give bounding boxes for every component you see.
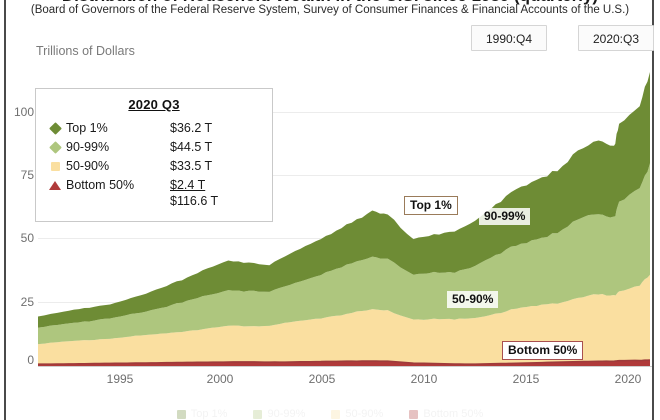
bottom-legend-marker-icon — [409, 410, 418, 419]
bottom-legend: Top 1%90-99%50-90%Bottom 50% — [0, 408, 660, 420]
bottom-legend-label: Top 1% — [191, 408, 228, 420]
legend-series-value: $36.2 T — [162, 121, 264, 135]
legend-series-name: Top 1% — [66, 121, 162, 135]
legend-panel: 2020 Q3 Top 1%$36.2 T90-99%$44.5 T50-90%… — [35, 88, 273, 222]
legend-total-value: $116.6 T — [162, 194, 264, 213]
bottom-legend-label: Bottom 50% — [423, 408, 483, 420]
legend-row: Top 1%$36.2 T — [44, 118, 264, 137]
y-tick-50: 50 — [0, 231, 34, 245]
page-subtitle: (Board of Governors of the Federal Reser… — [0, 4, 660, 16]
x-axis-line — [38, 366, 652, 367]
x-tick-2005: 2005 — [297, 372, 347, 386]
x-tick-2000: 2000 — [195, 372, 245, 386]
bottom-legend-label: 50-90% — [345, 408, 383, 420]
bottom-legend-item: 90-99% — [253, 408, 305, 420]
legend-series-name: Bottom 50% — [66, 178, 162, 192]
x-tick-2010: 2010 — [399, 372, 449, 386]
x-tick-2020: 2020 — [603, 372, 653, 386]
x-tick-1995: 1995 — [95, 372, 145, 386]
y-axis-units-label: Trillions of Dollars — [36, 44, 135, 58]
x-tick-2015: 2015 — [501, 372, 551, 386]
bottom-legend-marker-icon — [331, 410, 340, 419]
bottom-legend-label: 90-99% — [267, 408, 305, 420]
square-marker-icon — [44, 160, 66, 172]
diamond-marker-icon — [44, 122, 66, 134]
legend-total-spacer — [44, 194, 162, 213]
legend-total-row: $116.6 T — [44, 194, 264, 213]
bottom-legend-marker-icon — [177, 410, 186, 419]
legend-series-value: $33.5 T — [162, 159, 264, 173]
legend-rows: Top 1%$36.2 T90-99%$44.5 T50-90%$33.5 TB… — [44, 118, 264, 194]
frame-right-border — [652, 0, 654, 420]
start-date-selector[interactable]: 1990:Q4 — [471, 25, 547, 51]
y-tick-100: 100 — [0, 105, 34, 119]
legend-row: 90-99%$44.5 T — [44, 137, 264, 156]
y-tick-75: 75 — [0, 168, 34, 182]
legend-series-value: $2.4 T — [162, 178, 264, 192]
triangle-marker-icon — [44, 179, 66, 191]
90-99-callout: 90-99% — [479, 208, 530, 225]
legend-row: 50-90%$33.5 T — [44, 156, 264, 175]
legend-series-name: 90-99% — [66, 140, 162, 154]
bottom-legend-marker-icon — [253, 410, 262, 419]
bottom-legend-item: 50-90% — [331, 408, 383, 420]
bottom-legend-item: Bottom 50% — [409, 408, 483, 420]
legend-row: Bottom 50%$2.4 T — [44, 175, 264, 194]
diamond-marker-icon — [44, 141, 66, 153]
legend-title: 2020 Q3 — [44, 97, 264, 112]
chart-app: Distribution of Household Wealth in the … — [0, 0, 660, 420]
bottom-50-callout: Bottom 50% — [502, 341, 583, 360]
legend-series-value: $44.5 T — [162, 140, 264, 154]
bottom-legend-item: Top 1% — [177, 408, 228, 420]
legend-series-name: 50-90% — [66, 159, 162, 173]
50-90-callout: 50-90% — [447, 291, 498, 308]
top-1-callout: Top 1% — [404, 196, 458, 215]
end-date-selector[interactable]: 2020:Q3 — [578, 25, 654, 51]
y-axis: 100 75 50 25 0 — [0, 0, 34, 420]
y-tick-25: 25 — [0, 295, 34, 309]
y-tick-0: 0 — [0, 353, 34, 367]
